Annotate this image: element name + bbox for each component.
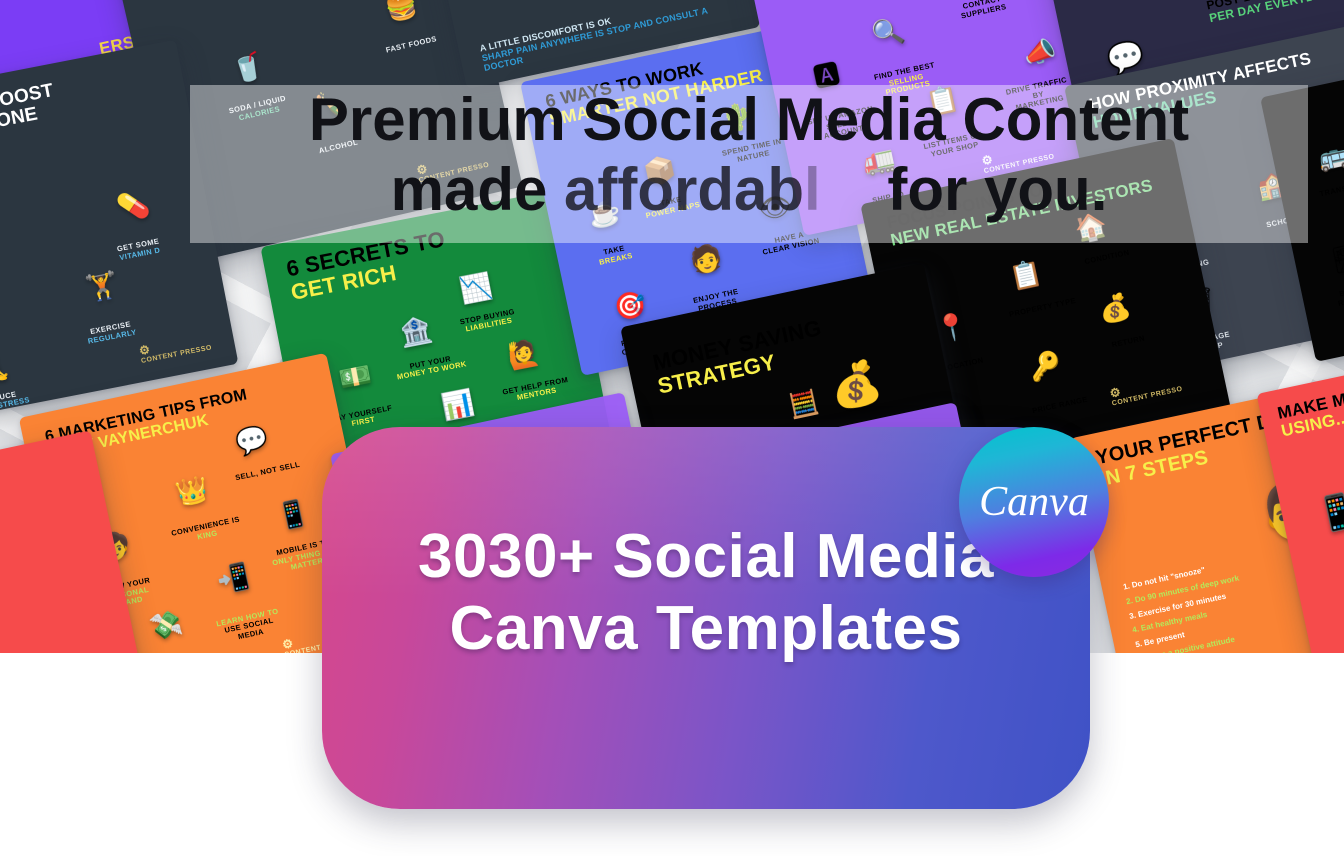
crown-icon: 👑 <box>174 475 211 507</box>
megaphone-icon: 📣 <box>1021 36 1058 68</box>
money-icon: 💵 <box>337 361 374 393</box>
headline-prefix: made <box>391 156 564 223</box>
burger-icon: 🍔 <box>383 0 420 23</box>
hero-headline: Premium Social Media Content made afford… <box>190 85 1308 243</box>
brand-watermark: ⚙CONTENT PRESSO <box>138 331 213 365</box>
headline-suffix <box>821 156 888 223</box>
steps-list: 1. Do not hit "snooze" 2. Do 90 minutes … <box>1122 557 1256 653</box>
card-label: REDUCE YOUR STRESS <box>0 386 38 417</box>
calculator-icon: 🧮 <box>787 390 821 420</box>
card-label: CONDITION <box>1070 246 1144 270</box>
soda-icon: 🥤 <box>229 51 266 84</box>
wallet-icon: 💸 <box>147 609 184 641</box>
bank-icon: 🏦 <box>397 315 434 347</box>
headline-animated-keyword: affordab <box>564 156 804 223</box>
headline-suffix-text: for you. <box>887 156 1107 223</box>
chart-down-icon: 📉 <box>458 272 495 304</box>
card-label: CONTACT SUPPLIERS <box>945 0 1021 24</box>
target-icon: 🎯 <box>612 289 649 321</box>
report-icon: 📊 <box>440 388 477 420</box>
clipboard-icon: 📋 <box>1007 259 1044 291</box>
headline-line-1: Premium Social Media Content <box>190 85 1308 155</box>
meditation-icon: 🧘 <box>0 351 12 383</box>
person-icon: 🧑 <box>687 243 724 275</box>
exercise-icon: 🏋 <box>84 270 121 302</box>
card-title: 6 WAYS TO BOOST TESTOSTERONE <box>0 60 167 155</box>
key-icon: 🔑 <box>1027 350 1064 382</box>
coins-icon: 💰 <box>1096 292 1133 324</box>
canva-wordmark-icon: Canva <box>972 471 1096 533</box>
card-label: LEARN HOW TO USE SOCIAL MEDIA <box>210 606 288 647</box>
card-title: MAKE MONEY USING... <box>1276 361 1344 440</box>
device-icon: 📱 <box>1313 492 1344 534</box>
card-title: POST 1-2 TIMES PER DAY EVERYDAY <box>1205 0 1333 25</box>
vitamin-icon: 💊 <box>115 190 152 222</box>
card-label: CONVENIENCE IS KING <box>169 515 245 547</box>
road-icon: 🛣 <box>1329 242 1344 274</box>
svg-text:Canva: Canva <box>979 479 1089 525</box>
card-label: GET HELP FROM MENTORS <box>498 375 574 406</box>
page-root: ERS. FOODS TO AVOID IF YOU WANT ABS 🍔 FA… <box>0 0 1344 856</box>
mentor-icon: 🙋 <box>505 338 542 370</box>
card-label: PUT YOUR MONEY TO WORK <box>393 352 469 383</box>
chat-bubbles-icon: 💬 <box>233 424 270 456</box>
brand-watermark: ⚙CONTENT PRESSO <box>1109 373 1184 408</box>
headline-line-2: made affordabl for you. <box>190 155 1308 225</box>
piggy-bank-icon: 💰 <box>826 359 886 411</box>
card-label: GET SOME VITAMIN D <box>101 235 177 266</box>
social-phone-icon: 📲 <box>215 562 252 594</box>
card-label: STOP BUYING LIABILITIES <box>450 306 526 337</box>
card-label: PROPERTY TYPE <box>1006 296 1080 320</box>
card-label: PRICE RANGE <box>1023 394 1097 418</box>
bus-icon: 🚌 <box>1316 140 1344 172</box>
card-label: SELL, NOT SELL <box>231 460 305 484</box>
card-label: TAKE BREAKS <box>577 239 653 271</box>
card-label: RETURN <box>1091 330 1165 354</box>
card-label: FAST FOODS <box>374 33 448 58</box>
card-label: MAKE EVERY PENNY WORK LIKE A DOLLAR <box>143 652 223 653</box>
canva-logo-icon[interactable]: Canva <box>959 427 1109 577</box>
headline-keyword-tail: l <box>804 156 821 223</box>
search-icon: 🔍 <box>870 16 907 48</box>
card-label: BUSY ROADS <box>1314 281 1344 313</box>
phone-icon: 📱 <box>275 498 312 530</box>
product-title-line-2: Canva Templates <box>322 593 1090 665</box>
